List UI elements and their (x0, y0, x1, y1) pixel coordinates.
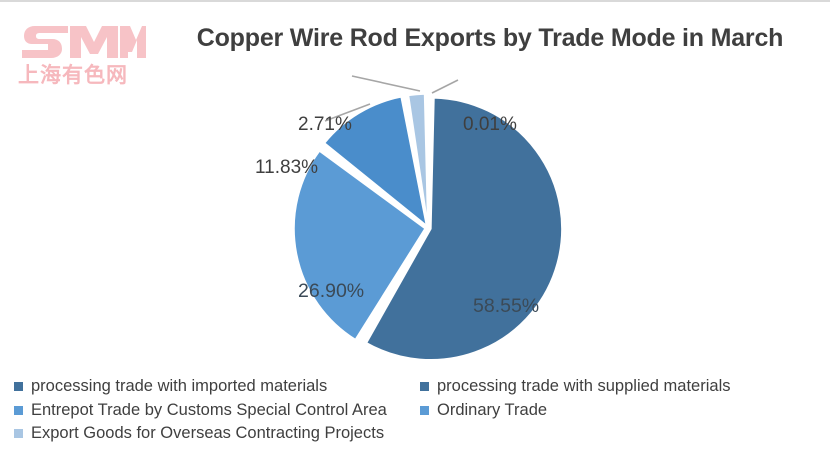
legend-item-label: processing trade with imported materials (31, 378, 327, 395)
legend-item[interactable]: processing trade with supplied materials (420, 378, 730, 395)
legend-item[interactable]: Entrepot Trade by Customs Special Contro… (14, 402, 420, 419)
pie-slice[interactable] (428, 94, 429, 225)
plot-area: 2.71% 0.01% 11.83% 26.90% 58.55% (0, 52, 830, 377)
data-label-ordinary-trade: 2.71% (298, 114, 352, 136)
data-label-supplied-materials: 26.90% (298, 280, 364, 303)
data-label-entrepot-trade: 11.83% (255, 157, 318, 179)
legend-swatch-icon (14, 406, 23, 415)
legend-swatch-icon (420, 406, 429, 415)
chart-legend: processing trade with imported materials… (14, 378, 814, 449)
pie-chart-svg (0, 52, 830, 377)
legend-item-label: Export Goods for Overseas Contracting Pr… (31, 425, 384, 442)
chart-container: 上海有色网 Copper Wire Rod Exports by Trade M… (0, 0, 830, 463)
legend-item[interactable]: processing trade with imported materials (14, 378, 420, 395)
legend-item-label: Entrepot Trade by Customs Special Contro… (31, 402, 387, 419)
data-label-imported-materials: 58.55% (473, 295, 539, 318)
leader-line-001 (432, 80, 458, 93)
legend-swatch-icon (14, 429, 23, 438)
legend-row: processing trade with imported materials… (14, 378, 814, 395)
legend-item-label: Ordinary Trade (437, 402, 547, 419)
legend-swatch-icon (14, 382, 23, 391)
legend-row: Export Goods for Overseas Contracting Pr… (14, 425, 814, 442)
legend-item-label: processing trade with supplied materials (437, 378, 730, 395)
legend-item[interactable]: Ordinary Trade (420, 402, 547, 419)
chart-title: Copper Wire Rod Exports by Trade Mode in… (165, 24, 815, 53)
leader-line-271 (352, 76, 420, 91)
legend-item[interactable]: Export Goods for Overseas Contracting Pr… (14, 425, 420, 442)
legend-row: Entrepot Trade by Customs Special Contro… (14, 402, 814, 419)
legend-swatch-icon (420, 382, 429, 391)
data-label-export-goods: 0.01% (463, 114, 517, 136)
